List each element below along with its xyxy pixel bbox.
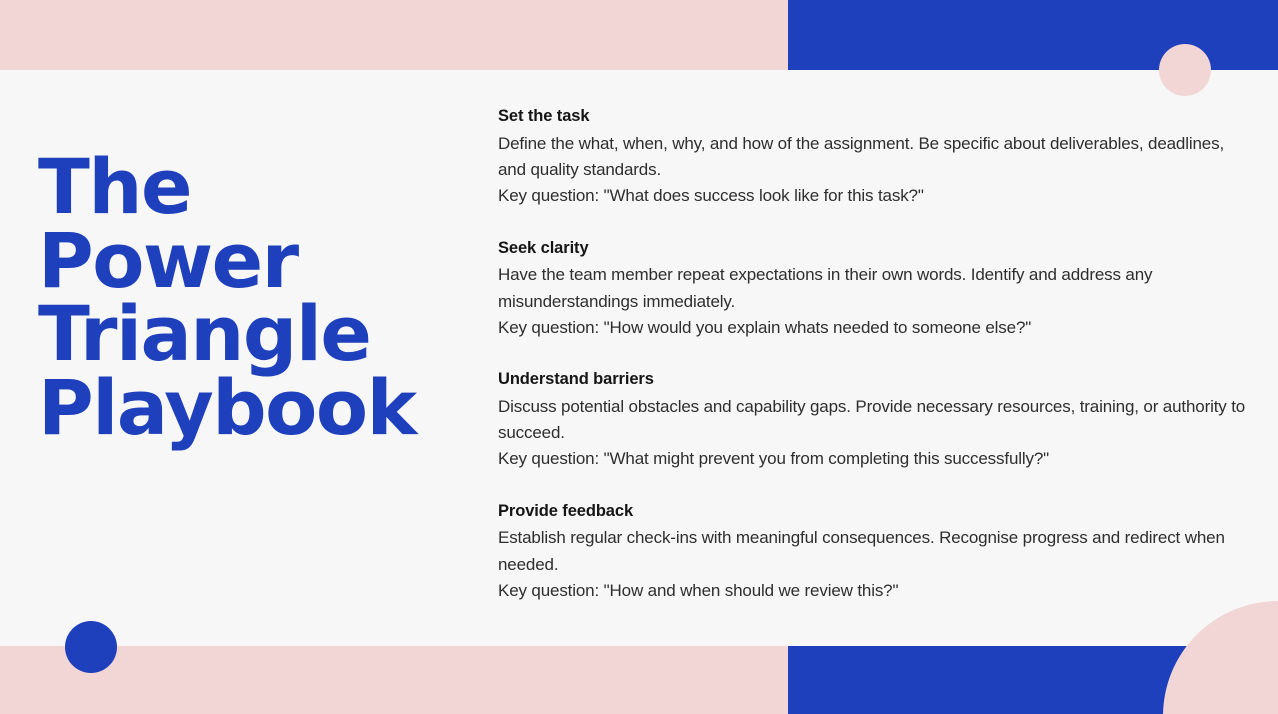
section-key-question: Key question: "What does success look li… [498, 183, 1250, 209]
section-provide-feedback: Provide feedback Establish regular check… [498, 499, 1250, 605]
bottom-left-blue-circle-icon [65, 621, 117, 673]
section-description: Establish regular check-ins with meaning… [498, 525, 1250, 578]
section-description: Have the team member repeat expectations… [498, 262, 1250, 315]
section-heading: Seek clarity [498, 236, 1250, 262]
section-key-question: Key question: "What might prevent you fr… [498, 446, 1250, 472]
slide-canvas: The Power Triangle Playbook Set the task… [0, 0, 1278, 714]
section-heading: Understand barriers [498, 367, 1250, 393]
section-heading: Provide feedback [498, 499, 1250, 525]
section-key-question: Key question: "How would you explain wha… [498, 315, 1250, 341]
section-description: Discuss potential obstacles and capabili… [498, 394, 1250, 447]
section-key-question: Key question: "How and when should we re… [498, 578, 1250, 604]
section-heading: Set the task [498, 104, 1250, 130]
section-description: Define the what, when, why, and how of t… [498, 131, 1250, 184]
section-set-the-task: Set the task Define the what, when, why,… [498, 104, 1250, 210]
section-understand-barriers: Understand barriers Discuss potential ob… [498, 367, 1250, 473]
slide-content: The Power Triangle Playbook Set the task… [0, 70, 1278, 646]
section-seek-clarity: Seek clarity Have the team member repeat… [498, 236, 1250, 342]
top-left-pink-bar [0, 0, 788, 70]
sections-column: Set the task Define the what, when, why,… [498, 104, 1250, 604]
page-title: The Power Triangle Playbook [38, 150, 458, 445]
bottom-left-pink-bar [0, 646, 788, 714]
